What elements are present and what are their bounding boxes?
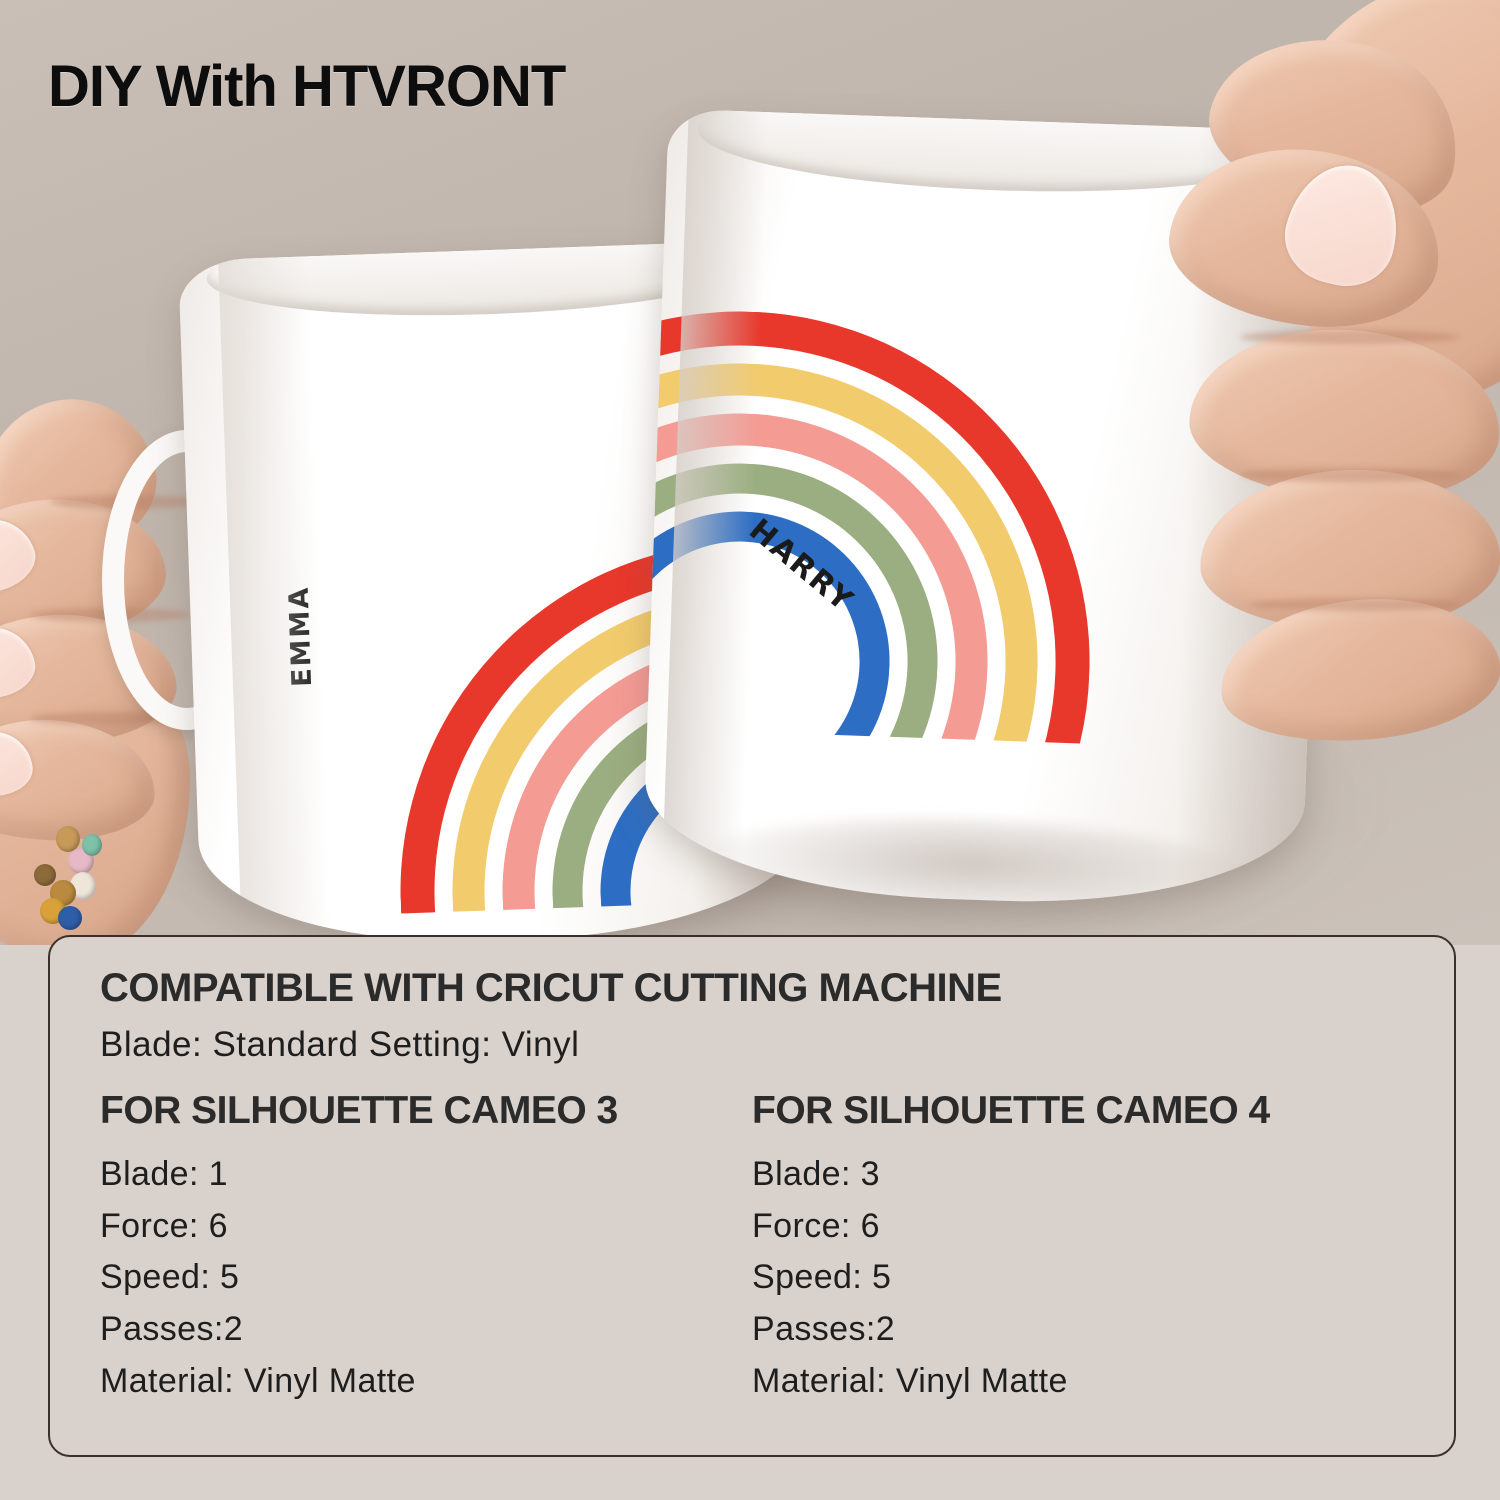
settings-list: Blade: 3 Force: 6 Speed: 5 Passes:2 Mate…	[752, 1149, 1404, 1407]
setting-row: Blade: 3	[752, 1149, 1404, 1201]
column-title: FOR SILHOUETTE CAMEO 4	[752, 1089, 1404, 1133]
setting-row: Blade: 1	[100, 1149, 752, 1201]
right-hand-crease-2	[1240, 468, 1460, 482]
setting-row: Speed: 5	[752, 1252, 1404, 1304]
column-title: FOR SILHOUETTE CAMEO 3	[100, 1089, 752, 1133]
right-hand-crease-3	[1250, 598, 1460, 611]
setting-row: Speed: 5	[100, 1252, 752, 1304]
setting-row: Force: 6	[100, 1201, 752, 1253]
beaded-bracelet	[10, 820, 170, 945]
setting-row: Material: Vinyl Matte	[752, 1356, 1404, 1408]
page-title: DIY With HTVRONT	[48, 58, 565, 116]
bracelet-bead	[58, 906, 82, 930]
setting-row: Passes:2	[752, 1304, 1404, 1356]
info-subheading: Blade: Standard Setting: Vinyl	[100, 1025, 1404, 1065]
settings-columns: FOR SILHOUETTE CAMEO 3 Blade: 1 Force: 6…	[100, 1089, 1404, 1407]
setting-row: Force: 6	[752, 1201, 1404, 1253]
bracelet-bead	[34, 864, 56, 886]
product-photo: EMMA HARRY	[0, 0, 1500, 945]
info-heading: COMPATIBLE WITH CRICUT CUTTING MACHINE	[100, 965, 1404, 1011]
bracelet-bead	[82, 834, 102, 856]
right-mug-name: HARRY	[760, 512, 1005, 660]
settings-column-cameo3: FOR SILHOUETTE CAMEO 3 Blade: 1 Force: 6…	[100, 1089, 752, 1407]
left-mug-gloss	[218, 256, 332, 945]
right-mug-gloss	[662, 109, 769, 891]
compatibility-info-box: COMPATIBLE WITH CRICUT CUTTING MACHINE B…	[48, 935, 1456, 1457]
settings-column-cameo4: FOR SILHOUETTE CAMEO 4 Blade: 3 Force: 6…	[752, 1089, 1404, 1407]
settings-list: Blade: 1 Force: 6 Speed: 5 Passes:2 Mate…	[100, 1149, 752, 1407]
right-hand-crease-1	[1240, 330, 1460, 344]
setting-row: Material: Vinyl Matte	[100, 1356, 752, 1408]
right-hand	[1180, 0, 1500, 700]
setting-row: Passes:2	[100, 1304, 752, 1356]
